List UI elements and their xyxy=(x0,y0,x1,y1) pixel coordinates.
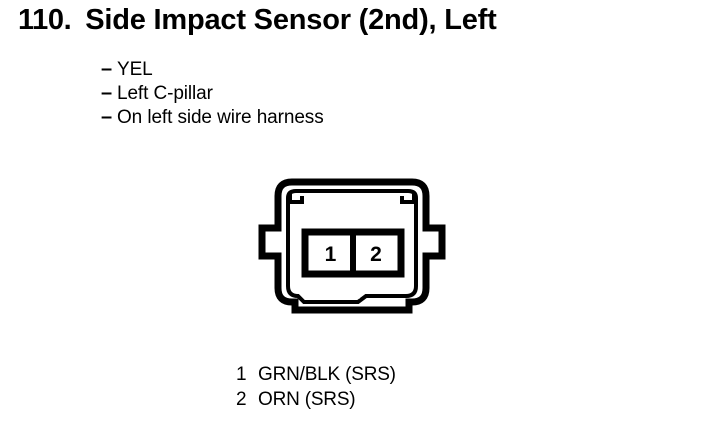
dash-marker-icon: – xyxy=(101,81,117,105)
dash-marker-icon: – xyxy=(101,57,117,81)
connector-hook-right-icon xyxy=(402,192,414,202)
detail-item: – YEL xyxy=(101,57,324,81)
detail-item: – Left C-pillar xyxy=(101,81,324,105)
detail-list: – YEL – Left C-pillar – On left side wir… xyxy=(101,57,324,129)
connector-hook-left-icon xyxy=(290,192,302,202)
pin-legend-number: 2 xyxy=(236,387,258,412)
detail-item: – On left side wire harness xyxy=(101,105,324,129)
detail-item-label: On left side wire harness xyxy=(117,106,324,130)
cavity-2-number: 2 xyxy=(370,243,382,266)
connector-diagram: 1 2 xyxy=(246,176,460,332)
title-text: Side Impact Sensor (2nd), Left xyxy=(85,4,496,37)
pin-legend-description: ORN (SRS) xyxy=(258,387,355,412)
pin-legend-description: GRN/BLK (SRS) xyxy=(258,362,396,387)
detail-item-label: Left C-pillar xyxy=(117,82,213,106)
pin-legend: 1 GRN/BLK (SRS) 2 ORN (SRS) xyxy=(236,362,396,412)
dash-marker-icon: – xyxy=(101,105,117,129)
detail-item-label: YEL xyxy=(117,58,153,82)
cavity-1-number: 1 xyxy=(325,243,337,266)
page-title: 110. Side Impact Sensor (2nd), Left xyxy=(18,4,497,37)
diagram-page: 110. Side Impact Sensor (2nd), Left – YE… xyxy=(0,0,704,434)
pin-legend-row: 2 ORN (SRS) xyxy=(236,387,396,412)
pin-legend-row: 1 GRN/BLK (SRS) xyxy=(236,362,396,387)
title-number: 110. xyxy=(18,4,71,37)
pin-legend-number: 1 xyxy=(236,362,258,387)
connector-svg: 1 2 xyxy=(246,176,460,332)
